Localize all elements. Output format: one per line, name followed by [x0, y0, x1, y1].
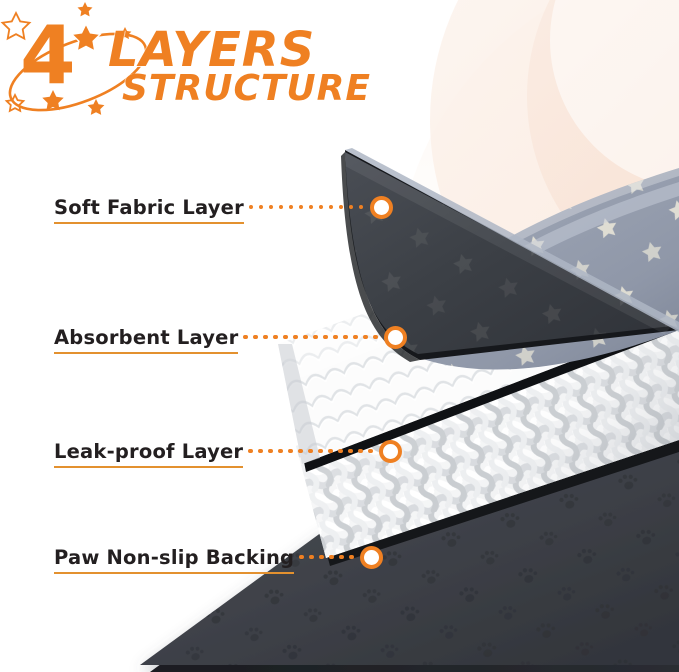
leader-dot [338, 449, 343, 454]
leader-dot [358, 449, 363, 454]
leader-dot [349, 555, 354, 560]
leader-dot [319, 205, 324, 210]
leader-dot [349, 205, 354, 210]
leader-dot [243, 335, 248, 340]
leader-dot [318, 449, 323, 454]
leader-dot [298, 449, 303, 454]
leader-dot [248, 449, 253, 454]
leader-line-leak-proof-layer [248, 446, 378, 456]
leader-dot [259, 205, 264, 210]
leader-dot [269, 205, 274, 210]
leader-dot [313, 335, 318, 340]
leader-dot [359, 205, 364, 210]
ring-marker-absorbent-layer[interactable] [384, 326, 407, 349]
leader-dot [253, 335, 258, 340]
leader-dot [268, 449, 273, 454]
leader-dot [373, 335, 378, 340]
leader-dot [339, 555, 344, 560]
callout-absorbent-layer[interactable]: Absorbent Layer [54, 320, 407, 360]
leader-dot [258, 449, 263, 454]
leader-dot [299, 555, 304, 560]
leader-dot [293, 335, 298, 340]
leader-dot [348, 449, 353, 454]
leader-dot [353, 335, 358, 340]
leader-dot [343, 335, 348, 340]
leader-dot [339, 205, 344, 210]
callout-label-paw-non-slip-backing: Paw Non-slip Backing [54, 546, 294, 574]
callout-label-absorbent-layer: Absorbent Layer [54, 326, 238, 354]
leader-dot [288, 449, 293, 454]
leader-dot [309, 205, 314, 210]
ring-marker-leak-proof-layer[interactable] [379, 440, 402, 463]
leader-dot [309, 555, 314, 560]
layer-count-number: 4 [20, 16, 74, 96]
leader-line-soft-fabric-layer [249, 202, 369, 212]
leader-dot [283, 335, 288, 340]
leader-dot [329, 555, 334, 560]
ring-marker-soft-fabric-layer[interactable] [370, 196, 393, 219]
leader-line-absorbent-layer [243, 332, 383, 342]
leader-dot [308, 449, 313, 454]
leader-dot [303, 335, 308, 340]
leader-line-paw-non-slip-backing [299, 552, 359, 562]
callout-soft-fabric-layer[interactable]: Soft Fabric Layer [54, 190, 393, 230]
callout-paw-non-slip-backing[interactable]: Paw Non-slip Backing [54, 540, 383, 580]
ring-marker-paw-non-slip-backing[interactable] [360, 546, 383, 569]
leader-dot [363, 335, 368, 340]
leader-dot [323, 335, 328, 340]
headline-word-structure: STRUCTURE [122, 68, 371, 109]
leader-dot [263, 335, 268, 340]
leader-dot [249, 205, 254, 210]
leader-dot [299, 205, 304, 210]
leader-dot [329, 205, 334, 210]
headline-block: 4 LAYERS STRUCTURE [0, 0, 360, 130]
infographic-canvas: 4 LAYERS STRUCTURE Soft Fabric Layer Abs… [0, 0, 679, 672]
leader-dot [319, 555, 324, 560]
leader-dot [279, 205, 284, 210]
callout-label-leak-proof-layer: Leak-proof Layer [54, 440, 243, 468]
leader-dot [278, 449, 283, 454]
leader-dot [333, 335, 338, 340]
leader-dot [273, 335, 278, 340]
leader-dot [328, 449, 333, 454]
leader-dot [368, 449, 373, 454]
callout-leak-proof-layer[interactable]: Leak-proof Layer [54, 434, 402, 474]
callout-label-soft-fabric-layer: Soft Fabric Layer [54, 196, 244, 224]
leader-dot [289, 205, 294, 210]
